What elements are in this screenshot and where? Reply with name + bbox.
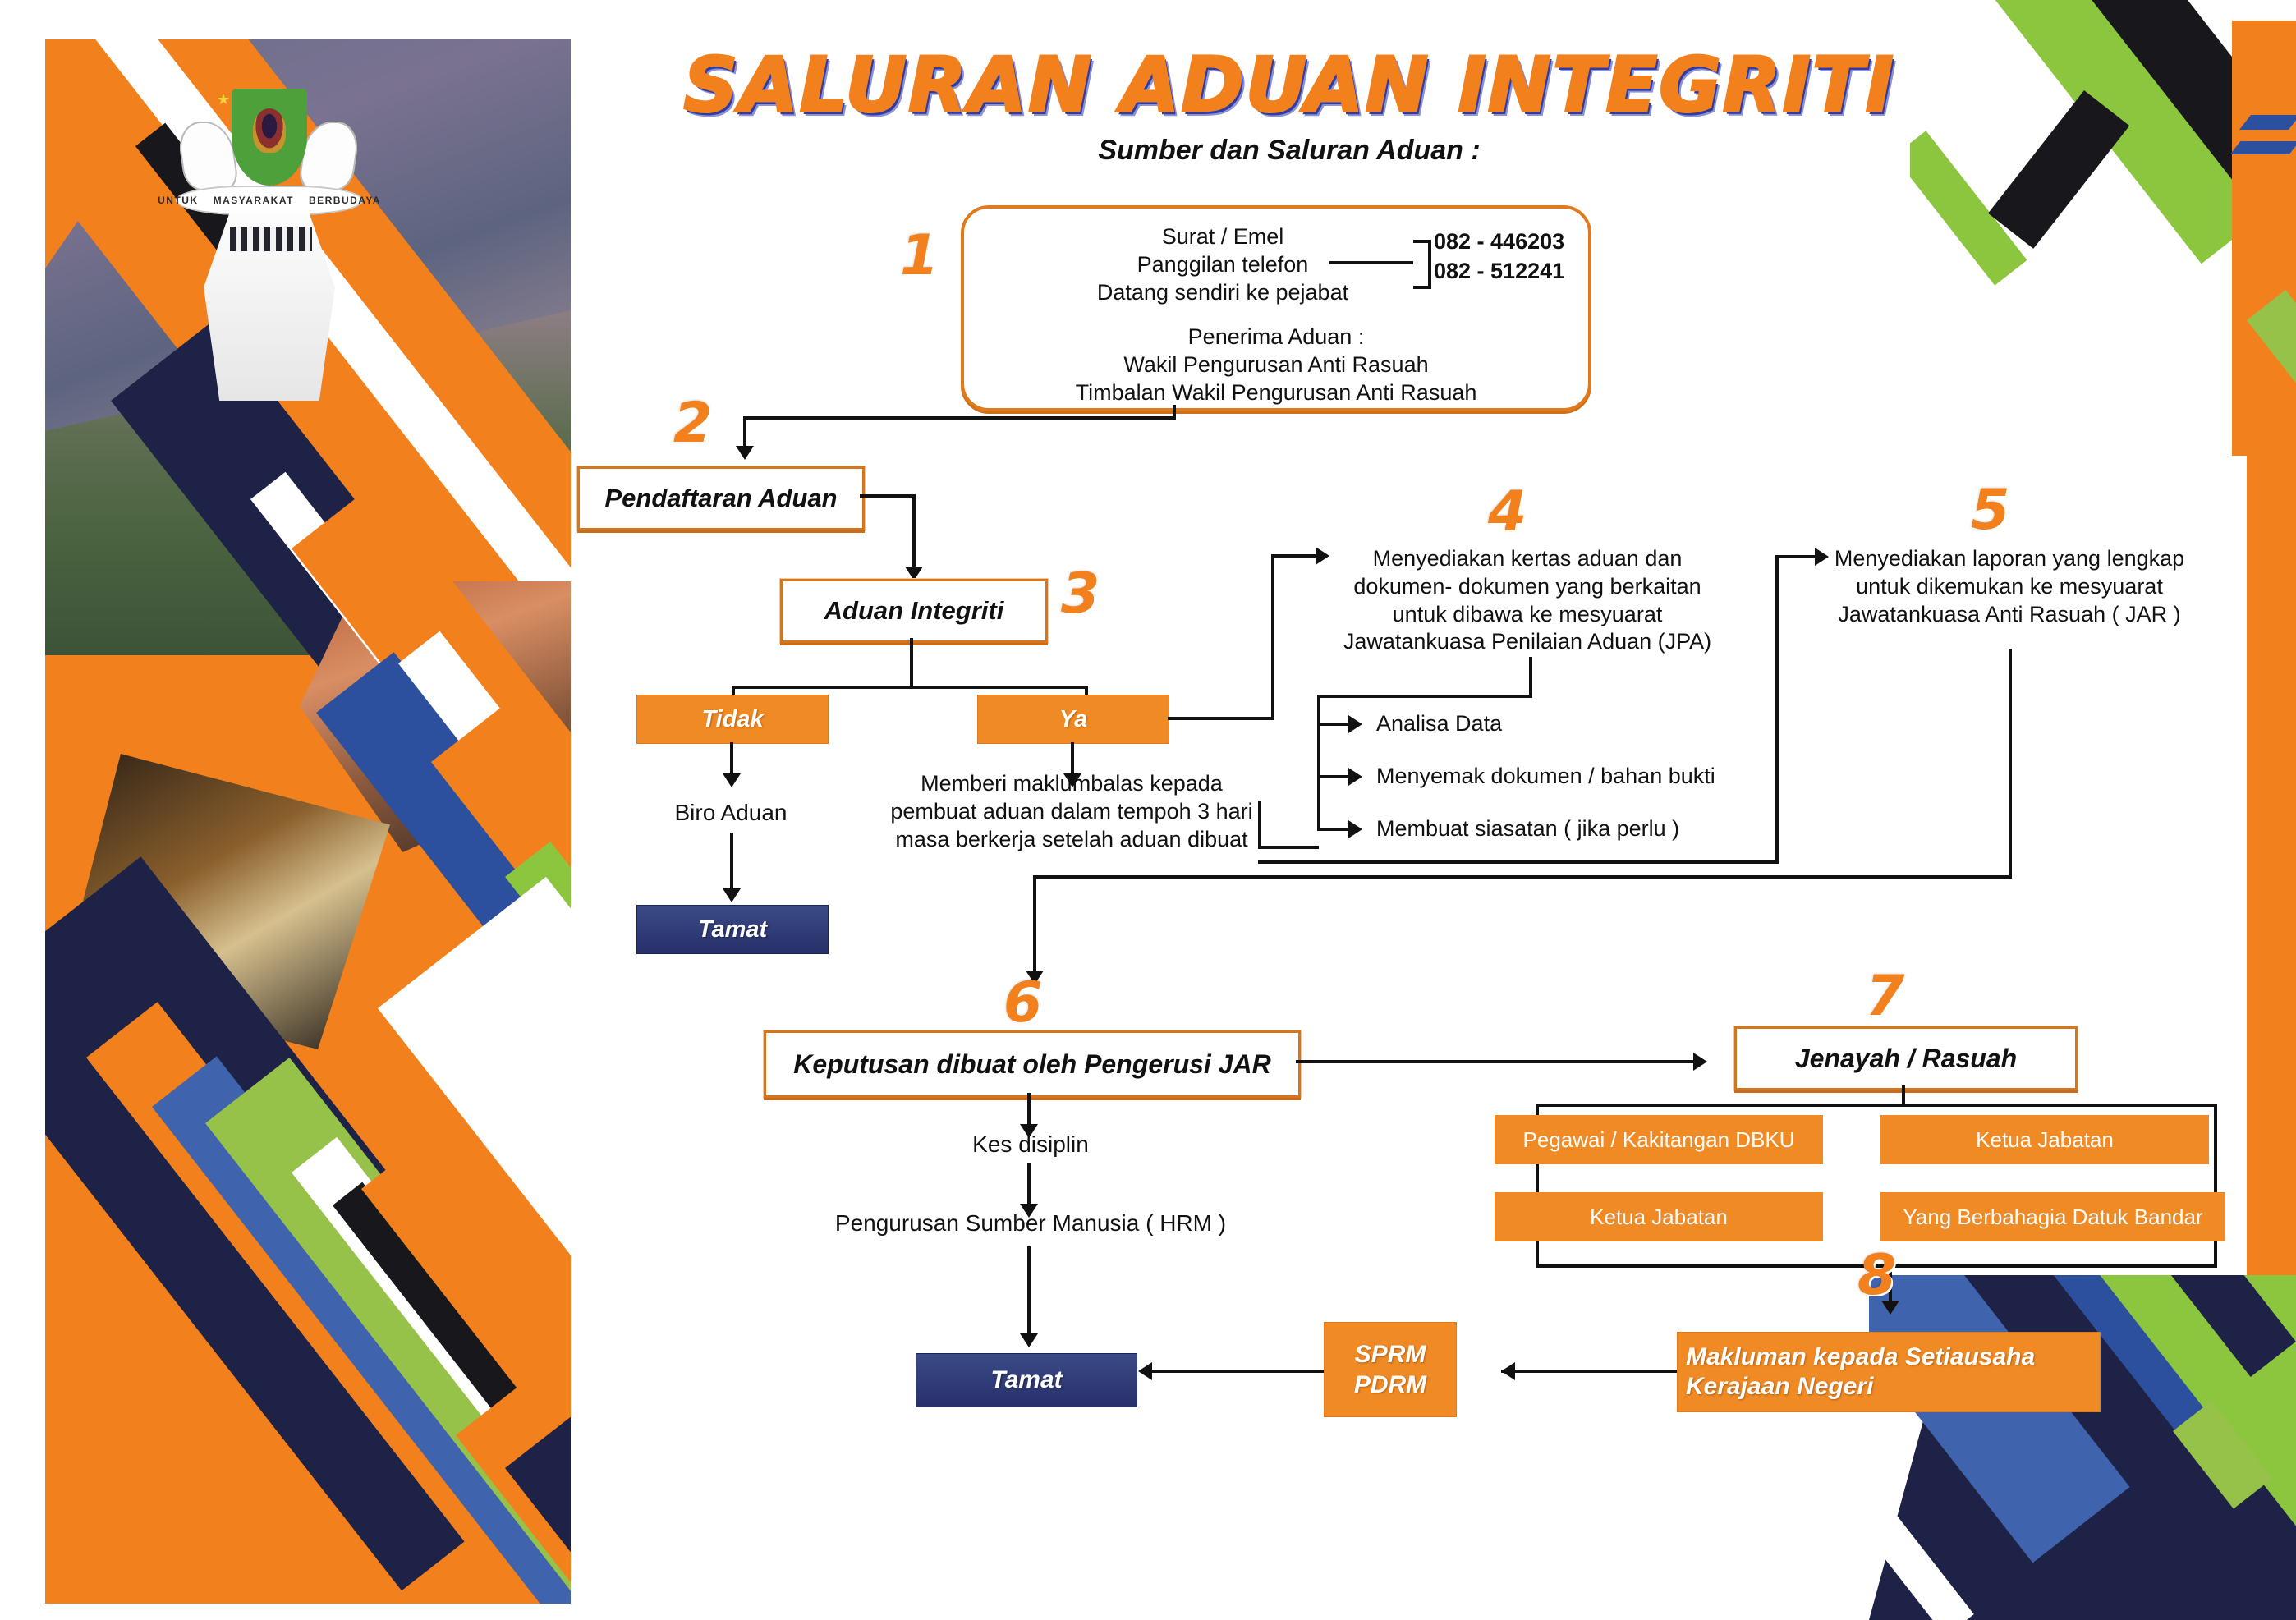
conn-biro-down: [730, 833, 733, 892]
conn-step7-right-leg: [2214, 1104, 2217, 1268]
step2-registration-box: Pendaftaran Aduan: [577, 466, 865, 530]
arrow-action-3: [1348, 820, 1362, 838]
conn-step7-split: [1536, 1104, 2217, 1107]
page-subtitle: Sumber dan Saluran Aduan :: [624, 135, 1954, 167]
step1-channel-1: Surat / Emel: [964, 223, 1481, 251]
step5-text: Menyediakan laporan yang lengkap untuk d…: [1825, 545, 2194, 628]
arrow-to-tamat-left: [723, 888, 741, 902]
conn-actions-right: [1775, 839, 1779, 860]
step7-left-role-1: Pegawai / Kakitangan DBKU: [1495, 1115, 1823, 1164]
page-title: SALURAN ADUAN INTEGRITI: [624, 48, 1954, 123]
conn-step6-down: [1027, 1093, 1031, 1127]
decorative-left-panel: ★ UNTUK MASYARAKAT BERBUDAYA: [45, 39, 571, 1604]
conn-step3-drop: [912, 494, 916, 570]
step3-tidak-box: Tidak: [636, 695, 829, 744]
conn-step2-drop: [743, 416, 746, 449]
step-number-6: 6: [1003, 975, 1042, 1031]
step3-biro-aduan: Biro Aduan: [624, 798, 838, 827]
conn-hrm-down: [1027, 1246, 1031, 1337]
conn-step4-riser: [1271, 554, 1274, 718]
conn-step4-in: [1271, 554, 1319, 558]
arrow-to-tamat-bottom: [1020, 1333, 1038, 1347]
step3-feedback-text: Memberi maklumbalas kepada pembuat aduan…: [887, 770, 1256, 853]
conn-step5-to-feedbackrail: [1033, 875, 2012, 879]
step3-integrity-box: Aduan Integriti: [780, 579, 1048, 643]
conn-step8-to-agency: [1501, 1370, 1677, 1373]
step7-right-role-1: Ketua Jabatan: [1880, 1115, 2209, 1164]
arrow-to-biro: [723, 773, 741, 787]
step4-action-2: Menyemak dokumen / bahan bukti: [1376, 763, 1836, 791]
step8-notice-box: Makluman kepada Setiausaha Kerajaan Nege…: [1677, 1332, 2101, 1412]
decorative-right-bar: [2247, 394, 2296, 1322]
tower-windows: [230, 227, 312, 251]
arrow-to-tamat-final: [1138, 1362, 1152, 1380]
step7-right-role-2: Yang Berbahagia Datuk Bandar: [1880, 1192, 2225, 1241]
arrow-to-agency: [1501, 1362, 1515, 1380]
crest-motto-word-3: BERBUDAYA: [309, 195, 381, 206]
conn-loop-bottom: [1258, 846, 1319, 849]
step6-tamat-box: Tamat: [916, 1353, 1137, 1407]
conn-step2-right: [860, 494, 916, 498]
arrow-action-1: [1348, 715, 1362, 733]
conn-step5-riser: [1775, 555, 1779, 839]
step1-phone-1: 082 - 446203: [1434, 228, 1564, 256]
step-number-5: 5: [1971, 483, 2009, 539]
step7-crime-box: Jenayah / Rasuah: [1734, 1026, 2078, 1090]
step1-receiver-2: Timbalan Wakil Pengurusan Anti Rasuah: [964, 379, 1588, 407]
step1-receiver-label: Penerima Aduan :: [964, 324, 1588, 351]
right-blue-chip-2: [2230, 141, 2296, 154]
decorative-right-bottom: [1869, 1275, 2296, 1620]
arrow-action-2: [1348, 768, 1362, 786]
conn-tidak-down: [730, 742, 733, 777]
conn-loop-riser: [1258, 801, 1261, 846]
step4-text: Menyediakan kertas aduan dan dokumen- do…: [1330, 545, 1724, 656]
page-header: SALURAN ADUAN INTEGRITI Sumber dan Salur…: [624, 48, 1954, 167]
step1-sources-box: Surat / Emel Panggilan telefon Datang se…: [961, 205, 1591, 411]
step1-channel-3: Datang sendiri ke pejabat: [964, 279, 1481, 307]
agency-pdrm: PDRM: [1354, 1370, 1426, 1401]
conn-step5-down: [2009, 649, 2012, 879]
step-number-2: 2: [673, 396, 712, 452]
arrow-to-step2: [736, 446, 754, 460]
agency-sprm: SPRM: [1355, 1339, 1426, 1370]
arrow-to-step7: [1693, 1053, 1707, 1071]
step7-left-role-2: Ketua Jabatan: [1495, 1192, 1823, 1241]
conn-step1-left: [743, 416, 1176, 420]
step-number-4: 4: [1488, 484, 1527, 540]
conn-step4-subdrop: [1529, 657, 1532, 698]
crest-shield: [232, 89, 307, 186]
conn-action-3: [1317, 828, 1352, 831]
conn-step3-split: [732, 686, 1088, 689]
conn-action-2: [1317, 775, 1352, 778]
step-number-1: 1: [900, 228, 939, 284]
phone-connector-line: [1329, 261, 1413, 264]
step1-channel-2: Panggilan telefon: [964, 251, 1481, 279]
conn-disiplin-down: [1027, 1163, 1031, 1207]
crest-motto-ribbon: UNTUK MASYARAKAT BERBUDAYA: [176, 186, 363, 215]
step3-tamat-box: Tamat: [636, 905, 829, 954]
step4-action-3: Membuat siasatan ( jika perlu ): [1376, 815, 1803, 843]
conn-agency-to-tamat: [1143, 1370, 1324, 1373]
conn-step3-down: [910, 638, 913, 689]
crest-motto-word-2: MASYARAKAT: [214, 195, 294, 206]
arrow-to-step4: [1316, 547, 1329, 565]
conn-step4-subrail: [1317, 695, 1320, 831]
crest-lion-left: [176, 122, 240, 190]
step6-kes-disiplin: Kes disiplin: [912, 1130, 1150, 1159]
step6-decision-box: Keputusan dibuat oleh Pengerusi JAR: [764, 1030, 1301, 1098]
phone-bracket: [1413, 240, 1431, 289]
right-stripe-black-2: [1988, 90, 2129, 249]
step1-phone-2: 082 - 512241: [1434, 258, 1564, 286]
conn-feedback-down: [1033, 875, 1036, 974]
step-number-7: 7: [1866, 969, 1904, 1025]
step1-receiver-1: Wakil Pengurusan Anti Rasuah: [964, 351, 1588, 379]
conn-ya-right: [1168, 717, 1274, 720]
decorative-right-top: [1910, 0, 2296, 460]
step-number-8: 8: [1857, 1248, 1896, 1304]
right-orange-bar-top: [2232, 21, 2296, 456]
step3-ya-box: Ya: [977, 695, 1169, 744]
agency-box: SPRM PDRM: [1324, 1322, 1457, 1417]
conn-action-1: [1317, 723, 1352, 726]
kuching-north-city-crest: ★ UNTUK MASYARAKAT BERBUDAYA: [181, 89, 357, 253]
right-blue-chip-1: [2239, 115, 2296, 130]
conn-step4-subrow: [1317, 695, 1532, 698]
crest-motto-word-1: UNTUK: [158, 195, 199, 206]
step6-hrm: Pengurusan Sumber Manusia ( HRM ): [821, 1209, 1240, 1237]
conn-actions-bottom: [1258, 860, 1779, 864]
step-number-3: 3: [1061, 567, 1100, 622]
step4-action-1: Analisa Data: [1376, 710, 1803, 738]
conn-step5-in: [1775, 555, 1818, 558]
conn-step6-to-step7: [1296, 1060, 1697, 1063]
